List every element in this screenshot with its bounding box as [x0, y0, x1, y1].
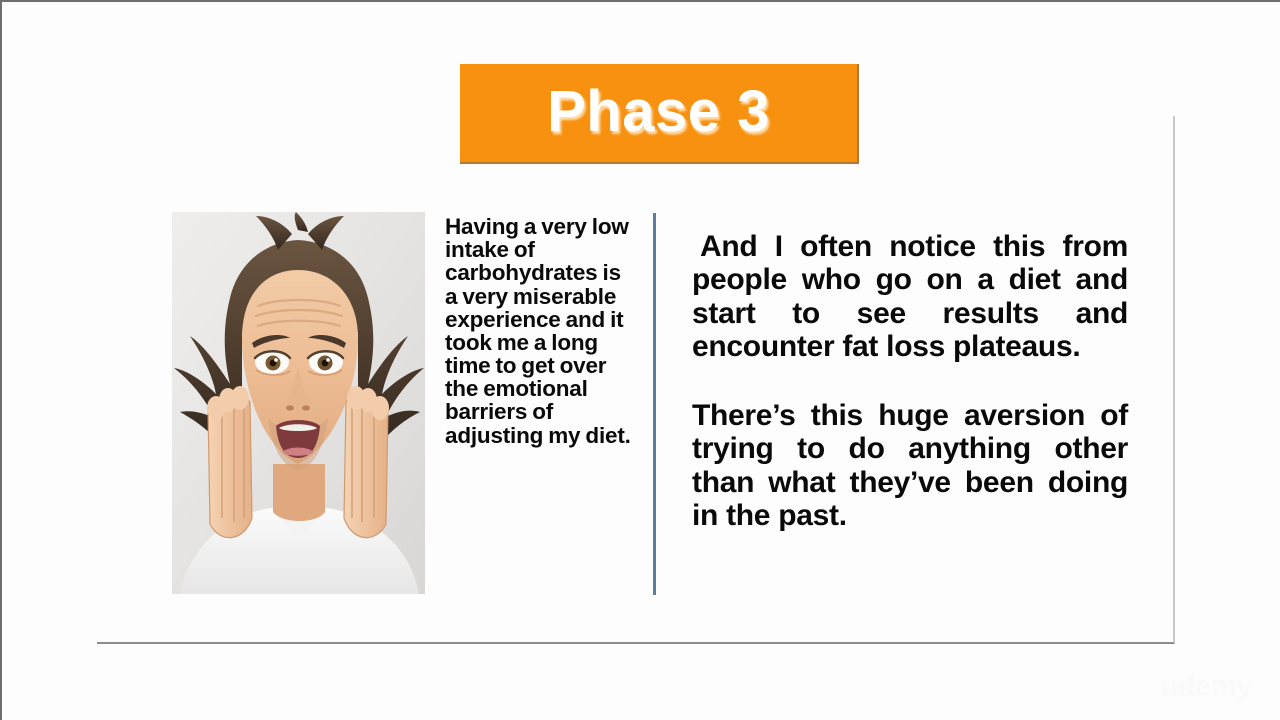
paragraph-spacer — [692, 363, 1128, 399]
stressed-man-photo — [172, 212, 425, 594]
watermark-label: udemy — [1160, 670, 1252, 704]
body-paragraph-2: There’s this huge aversion of trying to … — [692, 399, 1128, 532]
body-paragraph-1: And I often notice this from people who … — [692, 230, 1128, 363]
right-column: And I often notice this from people who … — [692, 230, 1128, 532]
photo-illustration — [172, 212, 425, 594]
title-banner: Phase 3 — [460, 64, 859, 164]
column-divider — [653, 213, 656, 595]
left-caption-text: Having a very low intake of carbohydrate… — [445, 215, 637, 447]
page-title: Phase 3 — [547, 83, 770, 141]
slide-canvas: Phase 3 — [0, 0, 1280, 720]
